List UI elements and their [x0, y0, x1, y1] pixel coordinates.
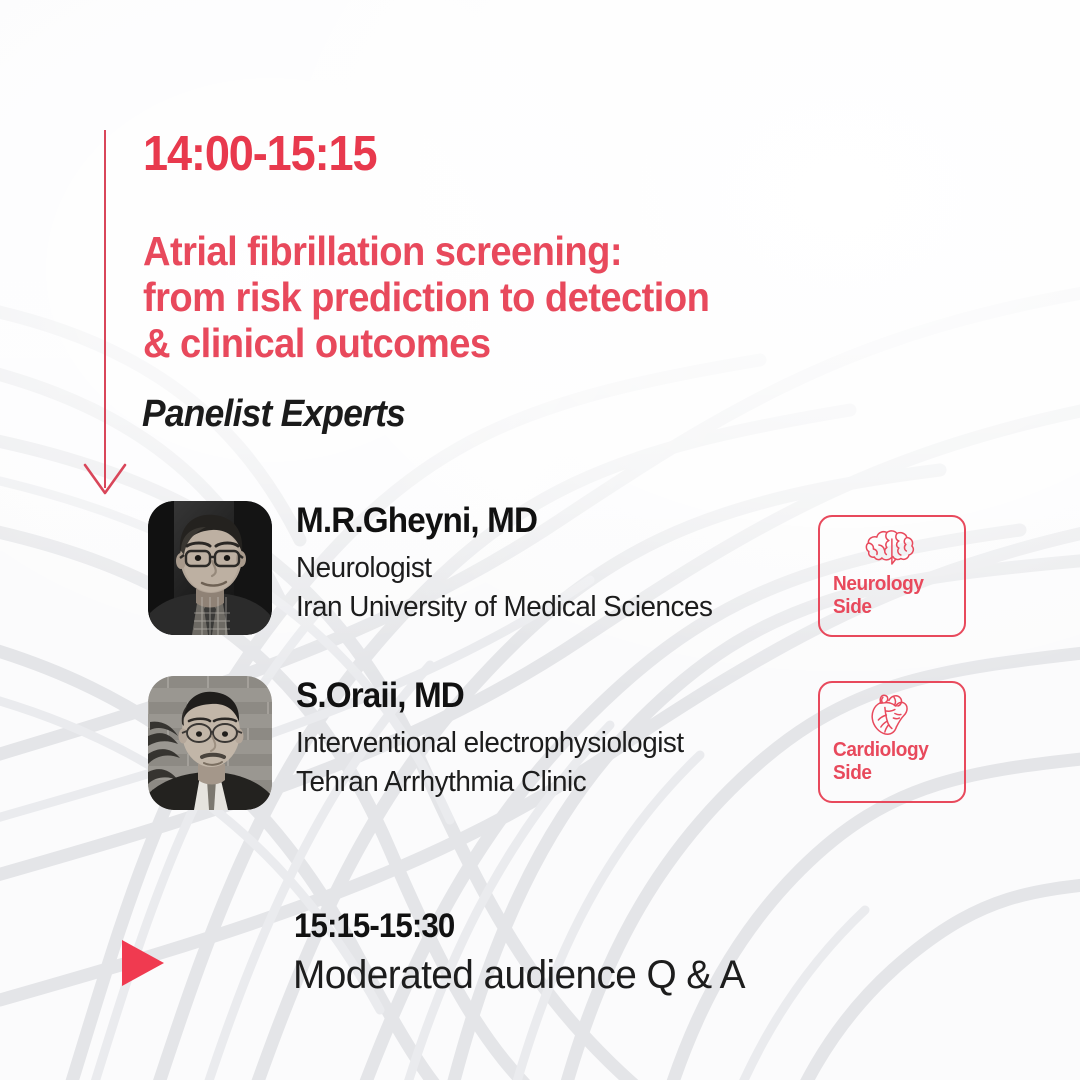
badge-label: Neurology Side: [833, 573, 924, 619]
panelist-experts-label: Panelist Experts: [142, 393, 405, 436]
qa-description: Moderated audience Q & A: [293, 953, 745, 998]
session-title: Atrial fibrillation screening: from risk…: [143, 228, 709, 366]
speaker-name: M.R.Gheyni, MD: [296, 501, 708, 541]
timeline-rail-line: [104, 130, 106, 488]
speaker-affiliation: Tehran Arrhythmia Clinic: [296, 763, 684, 802]
speaker-text-block: M.R.Gheyni, MD Neurologist Iran Universi…: [296, 501, 730, 627]
session-time: 14:00-15:15: [143, 126, 376, 182]
avatar: [148, 501, 272, 635]
play-triangle-icon: [120, 938, 166, 988]
speaker-affiliation: Iran University of Medical Sciences: [296, 588, 712, 627]
portrait-gheyni-image: [148, 501, 272, 635]
neurology-side-badge: Neurology Side: [818, 515, 966, 637]
badge-label: Cardiology Side: [833, 739, 928, 785]
speaker-text-block: S.Oraii, MD Interventional electrophysio…: [296, 676, 700, 802]
qa-time: 15:15-15:30: [294, 907, 454, 946]
timeline-arrow-down-icon: [82, 462, 128, 498]
speaker-name: S.Oraii, MD: [296, 676, 680, 716]
speaker-role: Neurologist: [296, 549, 712, 588]
portrait-oraii-image: [148, 676, 272, 810]
avatar: [148, 676, 272, 810]
heart-icon: [863, 691, 919, 737]
speaker-role: Interventional electrophysiologist: [296, 724, 684, 763]
cardiology-side-badge: Cardiology Side: [818, 681, 966, 803]
brain-icon: [863, 525, 919, 571]
